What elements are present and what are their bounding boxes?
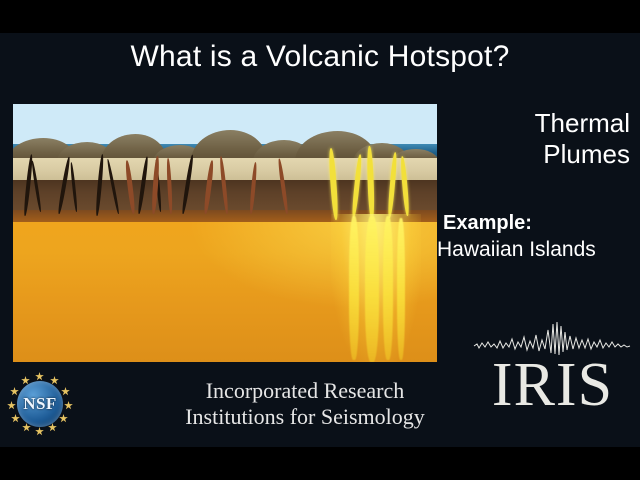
star-icon xyxy=(59,414,68,423)
thermal-plume-stem xyxy=(365,216,379,362)
thermal-plume-stem xyxy=(397,218,405,360)
thermal-plume-stem xyxy=(383,216,393,360)
thermal-plumes-line-2: Plumes xyxy=(370,139,630,170)
example-value: Hawaiian Islands xyxy=(437,236,637,263)
organization-name: Incorporated Research Institutions for S… xyxy=(155,378,455,430)
star-icon xyxy=(35,372,44,381)
bottom-letterbox-band xyxy=(0,447,640,480)
top-letterbox-band xyxy=(0,0,640,33)
example-caption: Example: Hawaiian Islands xyxy=(437,210,637,263)
iris-wordmark: IRIS xyxy=(470,354,635,416)
thermal-plumes-line-1: Thermal xyxy=(370,108,630,139)
star-icon xyxy=(11,414,20,423)
slide-canvas: What is a Volcanic Hotspot? xyxy=(0,0,640,480)
star-icon xyxy=(35,427,44,436)
thermal-plumes-caption: Thermal Plumes xyxy=(370,108,630,170)
page-title: What is a Volcanic Hotspot? xyxy=(0,40,640,74)
organization-line-1: Incorporated Research xyxy=(155,378,455,404)
example-label: Example: xyxy=(443,210,637,236)
iris-logo: IRIS xyxy=(470,318,635,423)
nsf-logo: NSF xyxy=(8,372,72,436)
nsf-wordmark: NSF xyxy=(8,394,72,414)
thermal-plume-stem xyxy=(349,216,359,360)
organization-line-2: Institutions for Seismology xyxy=(155,404,455,430)
